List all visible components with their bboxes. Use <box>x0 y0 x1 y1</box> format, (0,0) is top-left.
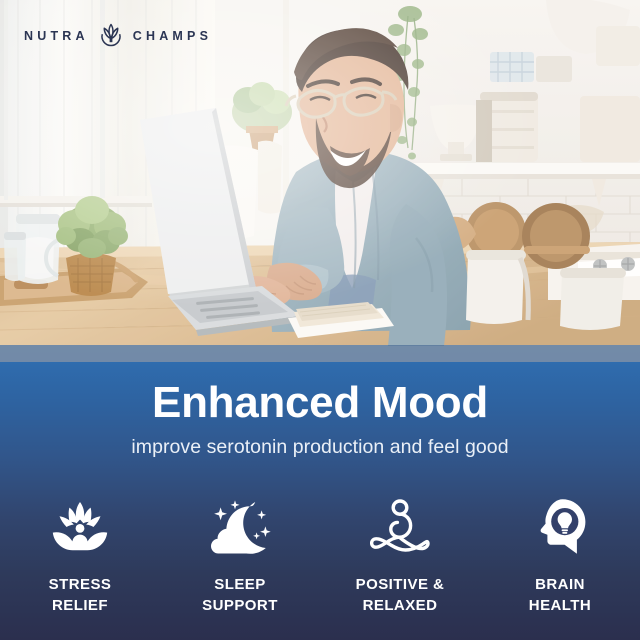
head-lightbulb-icon <box>480 496 640 558</box>
benefit-item-positive-relaxed: POSITIVE & RELAXED <box>320 496 480 617</box>
brand-logo[interactable]: NUTRA CHAMPS <box>24 22 212 50</box>
benefit-label-line2: HEALTH <box>529 595 591 616</box>
benefit-label-line2: RELIEF <box>49 595 112 616</box>
benefit-label-line2: RELAXED <box>356 595 445 616</box>
benefit-label-line1: STRESS <box>49 574 112 595</box>
benefit-item-sleep-support: SLEEP SUPPORT <box>160 496 320 617</box>
hero-photo <box>0 0 640 362</box>
benefit-label: BRAIN HEALTH <box>529 574 591 617</box>
benefit-label: SLEEP SUPPORT <box>202 574 278 617</box>
lotus-flower-icon <box>0 496 160 558</box>
meditation-figure-icon <box>320 496 480 558</box>
benefit-item-stress-relief: STRESS RELIEF <box>0 496 160 617</box>
benefit-item-brain-health: BRAIN HEALTH <box>480 496 640 617</box>
benefit-list: STRESS RELIEF <box>0 496 640 617</box>
benefit-label: POSITIVE & RELAXED <box>356 574 445 617</box>
lotus-icon <box>98 22 124 50</box>
benefit-label: STRESS RELIEF <box>49 574 112 617</box>
benefits-panel: Enhanced Mood improve serotonin producti… <box>0 362 640 640</box>
promo-banner: NUTRA CHAMPS Enhanced Mood improve serot… <box>0 0 640 640</box>
moon-cloud-stars-icon <box>160 496 320 558</box>
benefit-label-line1: SLEEP <box>202 574 278 595</box>
page-subtitle: improve serotonin production and feel go… <box>0 438 640 458</box>
photo-overlay-band <box>0 345 640 362</box>
brand-name-right: CHAMPS <box>133 30 212 43</box>
benefit-label-line1: POSITIVE & <box>356 574 445 595</box>
benefit-label-line1: BRAIN <box>529 574 591 595</box>
page-title: Enhanced Mood <box>0 381 640 425</box>
brand-name-left: NUTRA <box>24 30 89 43</box>
benefit-label-line2: SUPPORT <box>202 595 278 616</box>
